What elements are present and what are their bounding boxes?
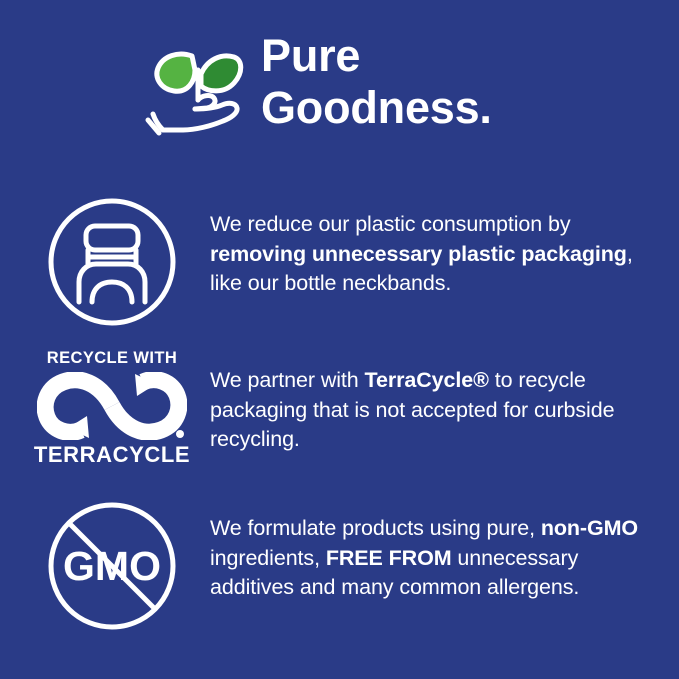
feature-text-gmo-part-3: FREE FROM — [326, 546, 452, 570]
hand-holding-sprout-icon — [145, 34, 253, 142]
feature-row-terracycle: RECYCLE WITH TERRACYCLE We partner wi — [0, 350, 679, 466]
feature-text-gmo: We formulate products using pure, non-GM… — [210, 500, 679, 603]
feature-row-gmo: GMO We formulate products using pure, no… — [0, 500, 679, 632]
feature-icon-container: RECYCLE WITH TERRACYCLE — [0, 350, 210, 466]
feature-icon-container: GMO — [0, 500, 210, 632]
feature-icon-container — [0, 196, 210, 328]
terracycle-top-label: RECYCLE WITH — [47, 350, 177, 367]
feature-text-terracycle-part-1: TerraCycle® — [365, 368, 489, 392]
page-title: Pure Goodness. — [261, 30, 492, 134]
header: Pure Goodness. — [0, 0, 679, 170]
feature-text-gmo-part-0: We formulate products using pure, — [210, 516, 541, 540]
feature-text-terracycle: We partner with TerraCycle® to recycle p… — [210, 350, 679, 455]
terracycle-bottom-label: TERRACYCLE — [34, 444, 190, 466]
recycle-infinity-loop-icon — [37, 372, 187, 440]
feature-text-plastic: We reduce our plastic consumption by rem… — [210, 196, 679, 299]
no-gmo-label: GMO — [63, 543, 161, 589]
feature-text-plastic-part-1: removing unnecessary plastic packaging — [210, 242, 627, 266]
no-gmo-circle-icon: GMO — [46, 500, 178, 632]
terracycle-logo-icon: RECYCLE WITH TERRACYCLE — [37, 350, 187, 466]
feature-text-terracycle-part-0: We partner with — [210, 368, 365, 392]
feature-text-plastic-part-0: We reduce our plastic consumption by — [210, 212, 571, 236]
feature-text-gmo-part-1: non-GMO — [541, 516, 638, 540]
bottle-neckband-circle-icon — [46, 196, 178, 328]
feature-row-plastic: We reduce our plastic consumption by rem… — [0, 196, 679, 328]
feature-text-gmo-part-2: ingredients, — [210, 546, 326, 570]
